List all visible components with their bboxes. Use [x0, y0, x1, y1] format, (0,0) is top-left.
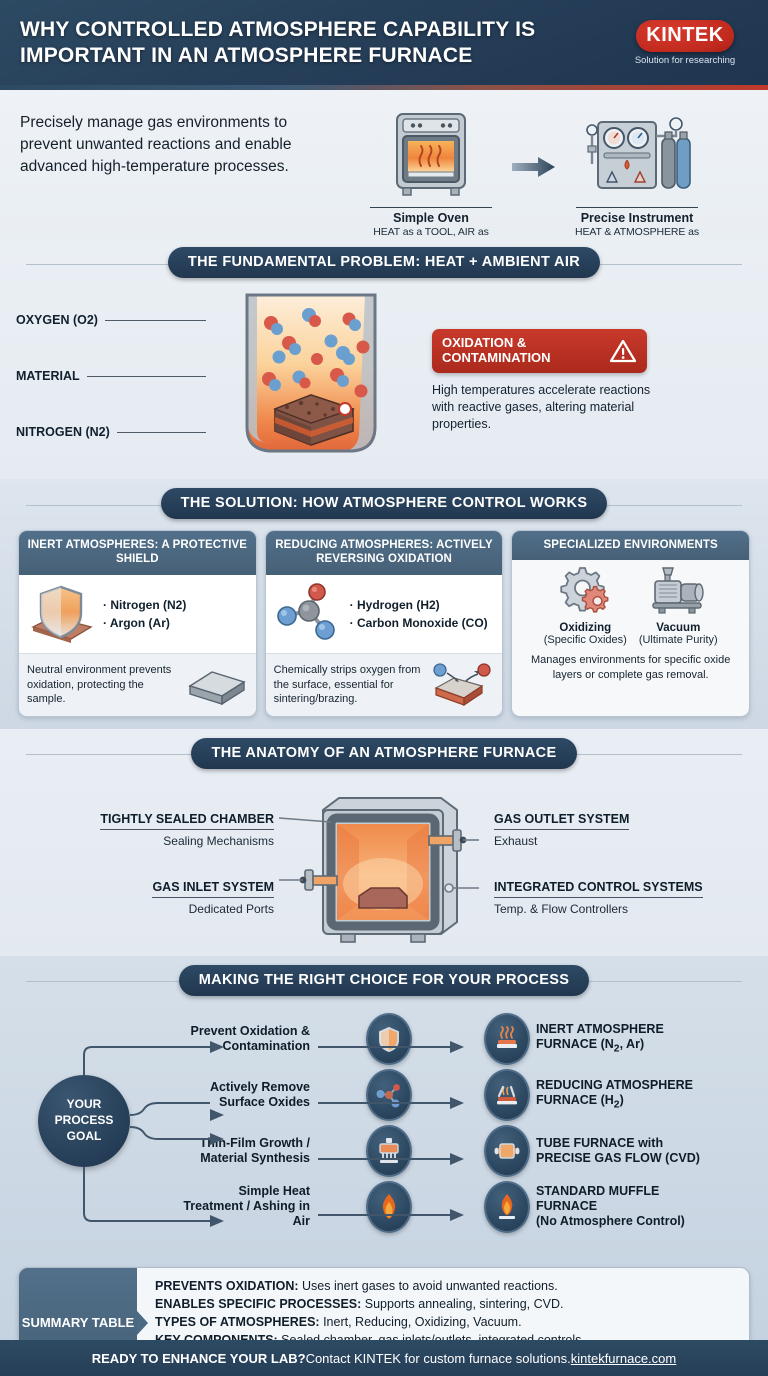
- summary-label: ENABLES SPECIFIC PROCESSES:: [155, 1297, 361, 1311]
- brand-logo: KINTEK Solution for researching: [616, 20, 754, 66]
- card-footer-text: Chemically strips oxygen from the surfac…: [274, 663, 424, 706]
- vacuum-pump-icon: [647, 564, 709, 616]
- label-nitrogen: NITROGEN (N2): [16, 425, 206, 439]
- reduction-sample-icon: [428, 662, 494, 708]
- problem-diagram: [206, 291, 416, 471]
- spec-oxidizing: Oxidizing (Specific Oxides): [544, 564, 627, 646]
- section-title: THE ANATOMY OF AN ATMOSPHERE FURNACE: [191, 738, 576, 769]
- card-reducing-atmospheres[interactable]: REDUCING ATMOSPHERES: ACTIVELY REVERSING…: [265, 530, 504, 717]
- solution-section: THE SOLUTION: HOW ATMOSPHERE CONTROL WOR…: [0, 479, 768, 729]
- transition-arrow: [512, 108, 556, 178]
- gas-item: · Carbon Monoxide (CO): [350, 614, 488, 632]
- section-title: MAKING THE RIGHT CHOICE FOR YOUR PROCESS: [179, 965, 590, 996]
- decision-flow: YOUR PROCESS GOAL: [0, 1007, 768, 1257]
- page-header: WHY CONTROLLED ATMOSPHERE CAPABILITY IS …: [0, 0, 768, 85]
- open-chamber-icon: [213, 291, 409, 461]
- card-header: SPECIALIZED ENVIRONMENTS: [512, 531, 749, 560]
- gas-item: · Argon (Ar): [103, 614, 186, 632]
- summary-text: Inert, Reducing, Oxidizing, Vacuum.: [320, 1315, 522, 1329]
- danger-title: OXIDATION & CONTAMINATION: [442, 336, 601, 366]
- logo-pill: KINTEK: [636, 20, 733, 52]
- summary-text: Supports annealing, sintering, CVD.: [361, 1297, 563, 1311]
- divider: [370, 207, 492, 208]
- intro-visual: Simple Oven HEAT as a TOOL, AIR as DEFAU…: [320, 106, 748, 250]
- gas-item: · Nitrogen (N2): [103, 596, 186, 614]
- label-oxygen: OXYGEN (O2): [16, 313, 206, 327]
- section-title: THE FUNDAMENTAL PROBLEM: HEAT + AMBIENT …: [168, 247, 600, 278]
- intro-text: Precisely manage gas environments to pre…: [20, 106, 320, 178]
- problem-body: OXYGEN (O2) MATERIAL NITROGEN (N2): [0, 289, 768, 471]
- card-body: · Nitrogen (N2) · Argon (Ar): [19, 575, 256, 653]
- arrow-right-icon: [512, 156, 556, 178]
- problem-banner: THE FUNDAMENTAL PROBLEM: HEAT + AMBIENT …: [0, 238, 768, 289]
- metal-slab-icon: [186, 664, 248, 706]
- card-specialized-environments[interactable]: SPECIALIZED ENVIRONMENTS Oxidizing (Spec…: [511, 530, 750, 717]
- label-material: MATERIAL: [16, 369, 206, 383]
- device-name: Precise Instrument: [562, 211, 712, 225]
- card-footer-text: Neutral environment prevents oxidation, …: [27, 663, 181, 706]
- problem-labels: OXYGEN (O2) MATERIAL NITROGEN (N2): [16, 291, 206, 471]
- intro-section: Precisely manage gas environments to pre…: [0, 90, 768, 238]
- furnace-cutaway-icon: [279, 792, 479, 952]
- logo-text: KINTEK: [646, 24, 723, 46]
- card-inert-atmospheres[interactable]: INERT ATMOSPHERES: A PROTECTIVE SHIELD ·…: [18, 530, 257, 717]
- summary-row: PREVENTS OXIDATION: Uses inert gases to …: [155, 1277, 737, 1295]
- label-text: NITROGEN (N2): [16, 425, 110, 439]
- spec-vacuum: Vacuum (Ultimate Purity): [639, 564, 718, 646]
- card-body: Oxidizing (Specific Oxides): [512, 560, 749, 646]
- anatomy-item-control-systems: INTEGRATED CONTROL SYSTEMS Temp. & Flow …: [494, 878, 754, 916]
- card-header: INERT ATMOSPHERES: A PROTECTIVE SHIELD: [19, 531, 256, 575]
- divider: [576, 207, 698, 208]
- footer-cta: READY TO ENHANCE YOUR LAB?: [92, 1351, 306, 1366]
- card-footer-text: Manages environments for specific oxide …: [512, 646, 749, 691]
- summary-row: ENABLES SPECIFIC PROCESSES: Supports ann…: [155, 1295, 737, 1313]
- molecule-icon: [272, 583, 346, 645]
- device-precise-instrument: Precise Instrument HEAT & ATMOSPHERE as …: [562, 108, 712, 250]
- choice-section: MAKING THE RIGHT CHOICE FOR YOUR PROCESS…: [0, 956, 768, 1267]
- anatomy-left-labels: TIGHTLY SEALED CHAMBER Sealing Mechanism…: [14, 784, 274, 950]
- label-text: OXYGEN (O2): [16, 313, 98, 327]
- anatomy-item-gas-outlet: GAS OUTLET SYSTEM Exhaust: [494, 810, 754, 848]
- card-header: REDUCING ATMOSPHERES: ACTIVELY REVERSING…: [266, 531, 503, 575]
- card-body: · Hydrogen (H2) · Carbon Monoxide (CO): [266, 575, 503, 653]
- device-name: Simple Oven: [356, 211, 506, 225]
- summary-text: Uses inert gases to avoid unwanted react…: [299, 1279, 558, 1293]
- summary-row: TYPES OF ATMOSPHERES: Inert, Reducing, O…: [155, 1313, 737, 1331]
- anatomy-body: TIGHTLY SEALED CHAMBER Sealing Mechanism…: [0, 780, 768, 950]
- gear-icon: [554, 564, 616, 616]
- device-simple-oven: Simple Oven HEAT as a TOOL, AIR as DEFAU…: [356, 108, 506, 250]
- anatomy-sub: Exhaust: [494, 834, 754, 848]
- gas-list: · Nitrogen (N2) · Argon (Ar): [103, 596, 186, 632]
- footer-link[interactable]: kintekfurnace.com: [571, 1351, 677, 1366]
- anatomy-section: THE ANATOMY OF AN ATMOSPHERE FURNACE TIG…: [0, 729, 768, 956]
- anatomy-title: TIGHTLY SEALED CHAMBER: [100, 812, 274, 830]
- spec-sub: (Specific Oxides): [544, 634, 627, 646]
- problem-callout: OXIDATION & CONTAMINATION High temperatu…: [416, 291, 752, 471]
- anatomy-sub: Dedicated Ports: [14, 902, 274, 916]
- section-title: THE SOLUTION: HOW ATMOSPHERE CONTROL WOR…: [161, 488, 608, 519]
- anatomy-banner: THE ANATOMY OF AN ATMOSPHERE FURNACE: [0, 729, 768, 780]
- anatomy-sub: Temp. & Flow Controllers: [494, 902, 754, 916]
- shield-icon: [25, 583, 99, 645]
- anatomy-title: INTEGRATED CONTROL SYSTEMS: [494, 880, 703, 898]
- gas-panel-icon: [578, 108, 696, 200]
- anatomy-sub: Sealing Mechanisms: [14, 834, 274, 848]
- danger-badge: OXIDATION & CONTAMINATION: [432, 329, 647, 373]
- problem-section: THE FUNDAMENTAL PROBLEM: HEAT + AMBIENT …: [0, 238, 768, 479]
- label-text: MATERIAL: [16, 369, 80, 383]
- anatomy-title: GAS INLET SYSTEM: [152, 880, 274, 898]
- danger-note: High temperatures accelerate reactions w…: [432, 382, 657, 433]
- infographic-page: WHY CONTROLLED ATMOSPHERE CAPABILITY IS …: [0, 0, 768, 1376]
- summary-label: PREVENTS OXIDATION:: [155, 1279, 299, 1293]
- card-footer: Neutral environment prevents oxidation, …: [19, 653, 256, 716]
- page-title: WHY CONTROLLED ATMOSPHERE CAPABILITY IS …: [20, 17, 616, 67]
- card-footer: Chemically strips oxygen from the surfac…: [266, 653, 503, 716]
- choice-banner: MAKING THE RIGHT CHOICE FOR YOUR PROCESS: [0, 956, 768, 1007]
- gas-item: · Hydrogen (H2): [350, 596, 488, 614]
- anatomy-right-labels: GAS OUTLET SYSTEM Exhaust INTEGRATED CON…: [484, 784, 754, 950]
- spec-name: Oxidizing: [544, 622, 627, 634]
- anatomy-diagram: [274, 784, 484, 950]
- spec-name: Vacuum: [639, 622, 718, 634]
- oven-icon: [379, 108, 483, 200]
- page-footer: READY TO ENHANCE YOUR LAB? Contact KINTE…: [0, 1340, 768, 1376]
- spec-sub: (Ultimate Purity): [639, 634, 718, 646]
- warning-triangle-icon: [609, 338, 637, 364]
- footer-text: Contact KINTEK for custom furnace soluti…: [306, 1351, 571, 1366]
- gas-list: · Hydrogen (H2) · Carbon Monoxide (CO): [350, 596, 488, 632]
- anatomy-title: GAS OUTLET SYSTEM: [494, 812, 629, 830]
- anatomy-item-gas-inlet: GAS INLET SYSTEM Dedicated Ports: [14, 878, 274, 916]
- solution-banner: THE SOLUTION: HOW ATMOSPHERE CONTROL WOR…: [0, 479, 768, 530]
- summary-label: TYPES OF ATMOSPHERES:: [155, 1315, 320, 1329]
- solution-cards: INERT ATMOSPHERES: A PROTECTIVE SHIELD ·…: [0, 530, 768, 717]
- anatomy-item-sealed-chamber: TIGHTLY SEALED CHAMBER Sealing Mechanism…: [14, 810, 274, 848]
- flow-connectors: [0, 1007, 768, 1257]
- logo-tagline: Solution for researching: [616, 55, 754, 66]
